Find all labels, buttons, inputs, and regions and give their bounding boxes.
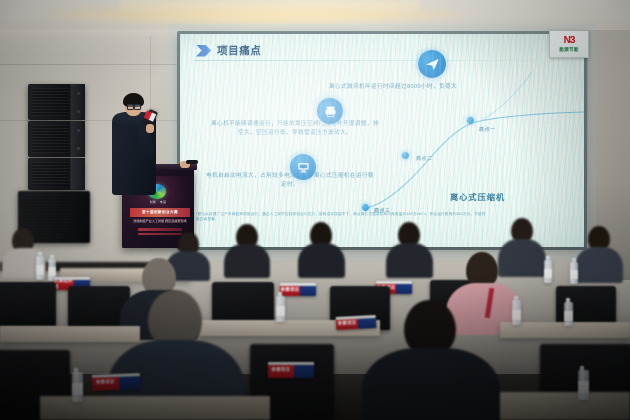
icon-caption-mark: ◦◦ — [438, 82, 440, 86]
ceiling-light-strip — [120, 0, 420, 13]
screenshot-root: 项目痛点 离心式鼓风机年运行时间超过8000小时，负荷大 离心机不能够调速运行，… — [0, 0, 630, 420]
curve-node-label-3: 痛点三 — [374, 207, 391, 214]
water-bottle — [578, 370, 589, 400]
presentation-screen: 项目痛点 离心式鼓风机年运行时间超过8000小时，负荷大 离心机不能够调速运行，… — [180, 34, 584, 247]
water-bottle — [544, 260, 552, 283]
icon-caption-mark: ◦◦ — [308, 185, 310, 189]
speaker-side-panel — [70, 84, 85, 120]
bottle-label — [564, 311, 573, 321]
speaker-side-panel — [70, 158, 85, 190]
water-bottle — [276, 296, 285, 322]
bottle-label — [72, 383, 83, 395]
speaker-bolt — [77, 110, 80, 113]
curve-node-label-1: 痛点一 — [479, 126, 496, 133]
water-bottle — [570, 262, 578, 284]
water-bottle — [564, 302, 573, 326]
water-bottle — [72, 372, 83, 402]
chair — [0, 282, 56, 326]
speaker-side-panel — [70, 121, 85, 157]
name-card-text: 参赛项目 — [338, 319, 357, 326]
event-emblem-caption: 创新 · 未来 — [146, 200, 170, 204]
audience-body-foreground — [362, 348, 500, 420]
podium-accent-line — [138, 233, 182, 236]
presentation-clicker — [186, 160, 198, 164]
name-card-top-edge — [268, 362, 314, 365]
curve-node-1 — [467, 117, 474, 124]
audience-body — [298, 243, 345, 278]
speaker-bolt — [77, 147, 80, 150]
slide-callout-label: 离心式压缩机 — [450, 191, 505, 203]
speaker-bolt — [77, 92, 80, 95]
audience-body — [575, 247, 623, 283]
slide-canvas: 项目痛点 离心式鼓风机年运行时间超过8000小时，负荷大 离心机不能够调速运行，… — [180, 34, 584, 247]
brand-logo-mark: N3 — [564, 36, 575, 46]
curve-node-3 — [362, 204, 369, 211]
paper-plane-icon — [418, 50, 446, 78]
table-name-card: 参赛项目 — [92, 373, 141, 391]
speaker-grill — [32, 88, 69, 116]
bottle-label — [36, 265, 44, 275]
line-array-speaker-unit — [28, 158, 85, 190]
presenter-hand — [146, 124, 154, 133]
name-card-text: 参赛项目 — [271, 367, 290, 373]
monitor-icon — [290, 154, 316, 180]
bottle-label — [570, 270, 578, 279]
bottle-label — [276, 306, 285, 316]
curve-node-2 — [402, 152, 409, 159]
table-front — [500, 392, 630, 420]
name-card-top-edge — [54, 277, 90, 280]
line-array-speaker-unit — [28, 121, 85, 157]
bottle-label — [512, 310, 521, 320]
trend-curve — [180, 34, 584, 247]
table-middle — [0, 326, 140, 342]
podium-accent-line — [138, 228, 182, 231]
audience-body — [224, 244, 270, 278]
name-card-text: 参赛项目 — [96, 379, 115, 386]
glasses-icon — [127, 104, 141, 108]
bottle-label — [48, 267, 56, 276]
line-array-speaker-unit — [28, 84, 85, 120]
name-card-top-edge — [376, 281, 412, 284]
water-bottle — [512, 300, 521, 325]
bottle-label — [578, 381, 589, 393]
podium-subtext: 智能制造产业人工智能 赛区选拔赛现场 — [132, 219, 188, 223]
name-card-top-edge — [280, 283, 316, 286]
table-name-card: 参赛项目 — [268, 362, 314, 378]
curve-node-label-2: 痛点二 — [416, 155, 433, 162]
podium-banner-text: 第十届创新创业大赛 — [142, 210, 178, 215]
bottle-label — [544, 269, 552, 278]
speaker-bolt — [77, 129, 80, 132]
audience-body — [498, 239, 546, 277]
printer-icon — [317, 98, 343, 124]
podium-banner: 第十届创新创业大赛 — [130, 208, 190, 217]
audience-body — [386, 243, 433, 278]
wall-seam — [0, 64, 180, 65]
table-name-card: 参赛项目 — [336, 315, 377, 330]
icon-caption-mark: ◦◦ — [335, 129, 337, 133]
table-name-card: 参赛项目 — [280, 283, 316, 296]
speaker-grill — [32, 125, 69, 153]
name-card-text: 参赛项目 — [281, 287, 300, 293]
water-bottle — [36, 256, 44, 280]
brand-logo: N3 能源节能 — [549, 30, 589, 58]
brand-logo-subtitle: 能源节能 — [559, 47, 579, 53]
speaker-grill — [32, 162, 69, 186]
